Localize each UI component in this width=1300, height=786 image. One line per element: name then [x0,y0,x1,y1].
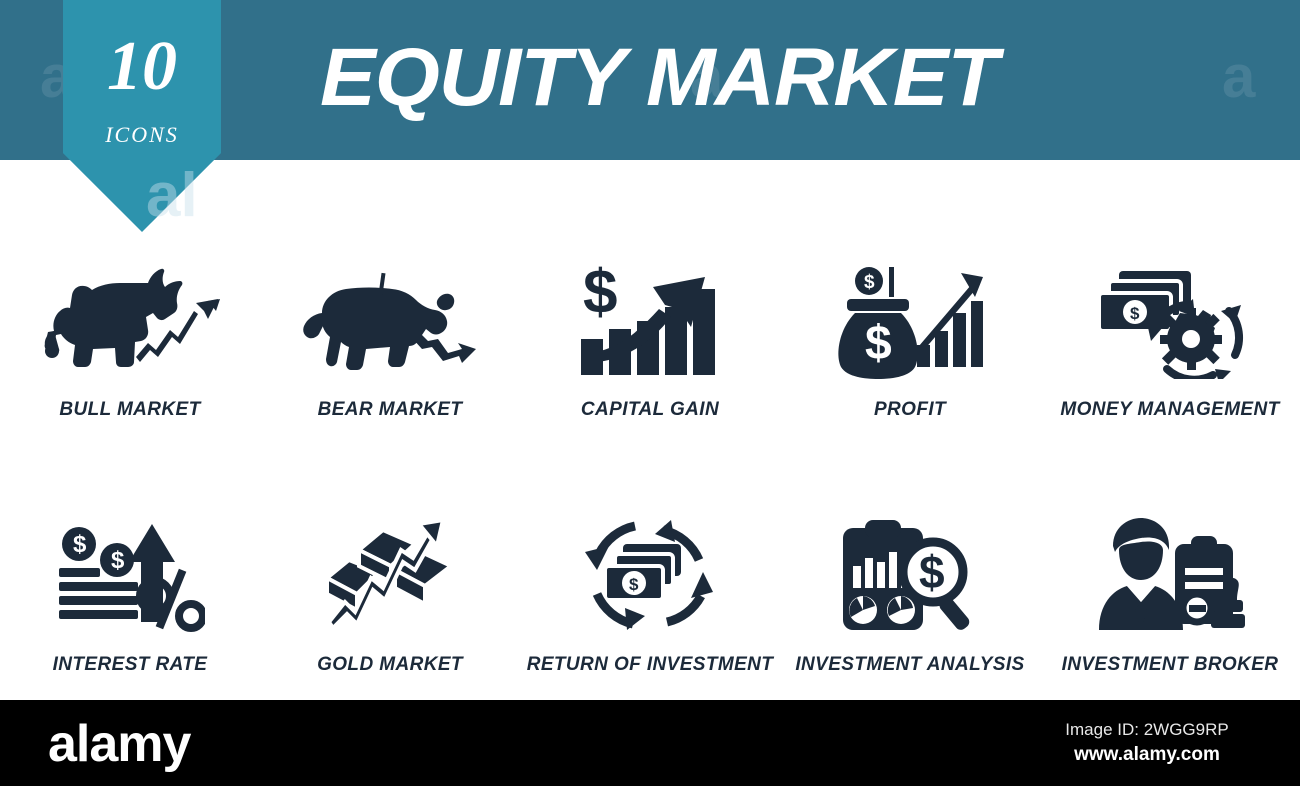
icon-label-return-of-investment: RETURN OF INVESTMENT [527,654,774,676]
icon-grid: BULL MARKET BEAR MARKET $ [0,160,1300,700]
interest-rate-icon: $ $ [38,510,223,640]
money-management-icon: $ [1078,255,1263,385]
page-title: EQUITY MARKET [320,28,1095,128]
icon-label-bull-market: BULL MARKET [59,399,200,421]
icon-label-money-management: MONEY MANAGEMENT [1060,399,1279,421]
icon-label-investment-analysis: INVESTMENT ANALYSIS [795,654,1024,676]
icon-cell-bull-market[interactable]: BULL MARKET [0,255,260,505]
icon-count-label: ICONS [63,122,221,148]
alamy-logo: alamy [48,716,190,772]
svg-text:$: $ [73,531,87,558]
return-of-investment-icon: $ [558,510,743,640]
page-footer: alamy Image ID: 2WGG9RP www.alamy.com [0,700,1300,786]
icon-row-1: BULL MARKET BEAR MARKET $ [0,255,1300,505]
svg-text:$: $ [864,272,875,293]
investment-analysis-icon: $ [818,510,1003,640]
svg-text:$: $ [1130,304,1140,323]
icon-label-bear-market: BEAR MARKET [318,399,463,421]
svg-text:$: $ [629,575,639,594]
icon-label-gold-market: GOLD MARKET [317,654,463,676]
icon-label-capital-gain: CAPITAL GAIN [581,399,719,421]
alamy-url: www.alamy.com [1032,742,1262,768]
image-id-text: Image ID: 2WGG9RP [1032,718,1262,742]
icon-count-number: 10 [63,28,221,106]
footer-meta: Image ID: 2WGG9RP www.alamy.com [1032,718,1262,768]
bear-market-icon [298,255,483,385]
icon-label-investment-broker: INVESTMENT BROKER [1062,654,1279,676]
icon-label-profit: PROFIT [874,399,946,421]
icon-cell-bear-market[interactable]: BEAR MARKET [260,255,520,505]
watermark-a-right: a [1222,42,1255,111]
icon-cell-money-management[interactable]: $ [1040,255,1300,505]
profit-icon: $ $ [818,255,1003,385]
icon-cell-profit[interactable]: $ $ PROFIT [780,255,1040,505]
bull-market-icon [38,255,223,385]
svg-text:$: $ [583,261,617,327]
capital-gain-icon: $ [558,255,743,385]
svg-text:$: $ [865,317,892,370]
investment-broker-icon [1078,510,1263,640]
svg-text:$: $ [919,546,945,598]
gold-market-icon [298,510,483,640]
svg-text:$: $ [111,547,125,574]
icon-label-interest-rate: INTEREST RATE [53,654,208,676]
icon-cell-capital-gain[interactable]: $ CAPITAL GAIN [520,255,780,505]
